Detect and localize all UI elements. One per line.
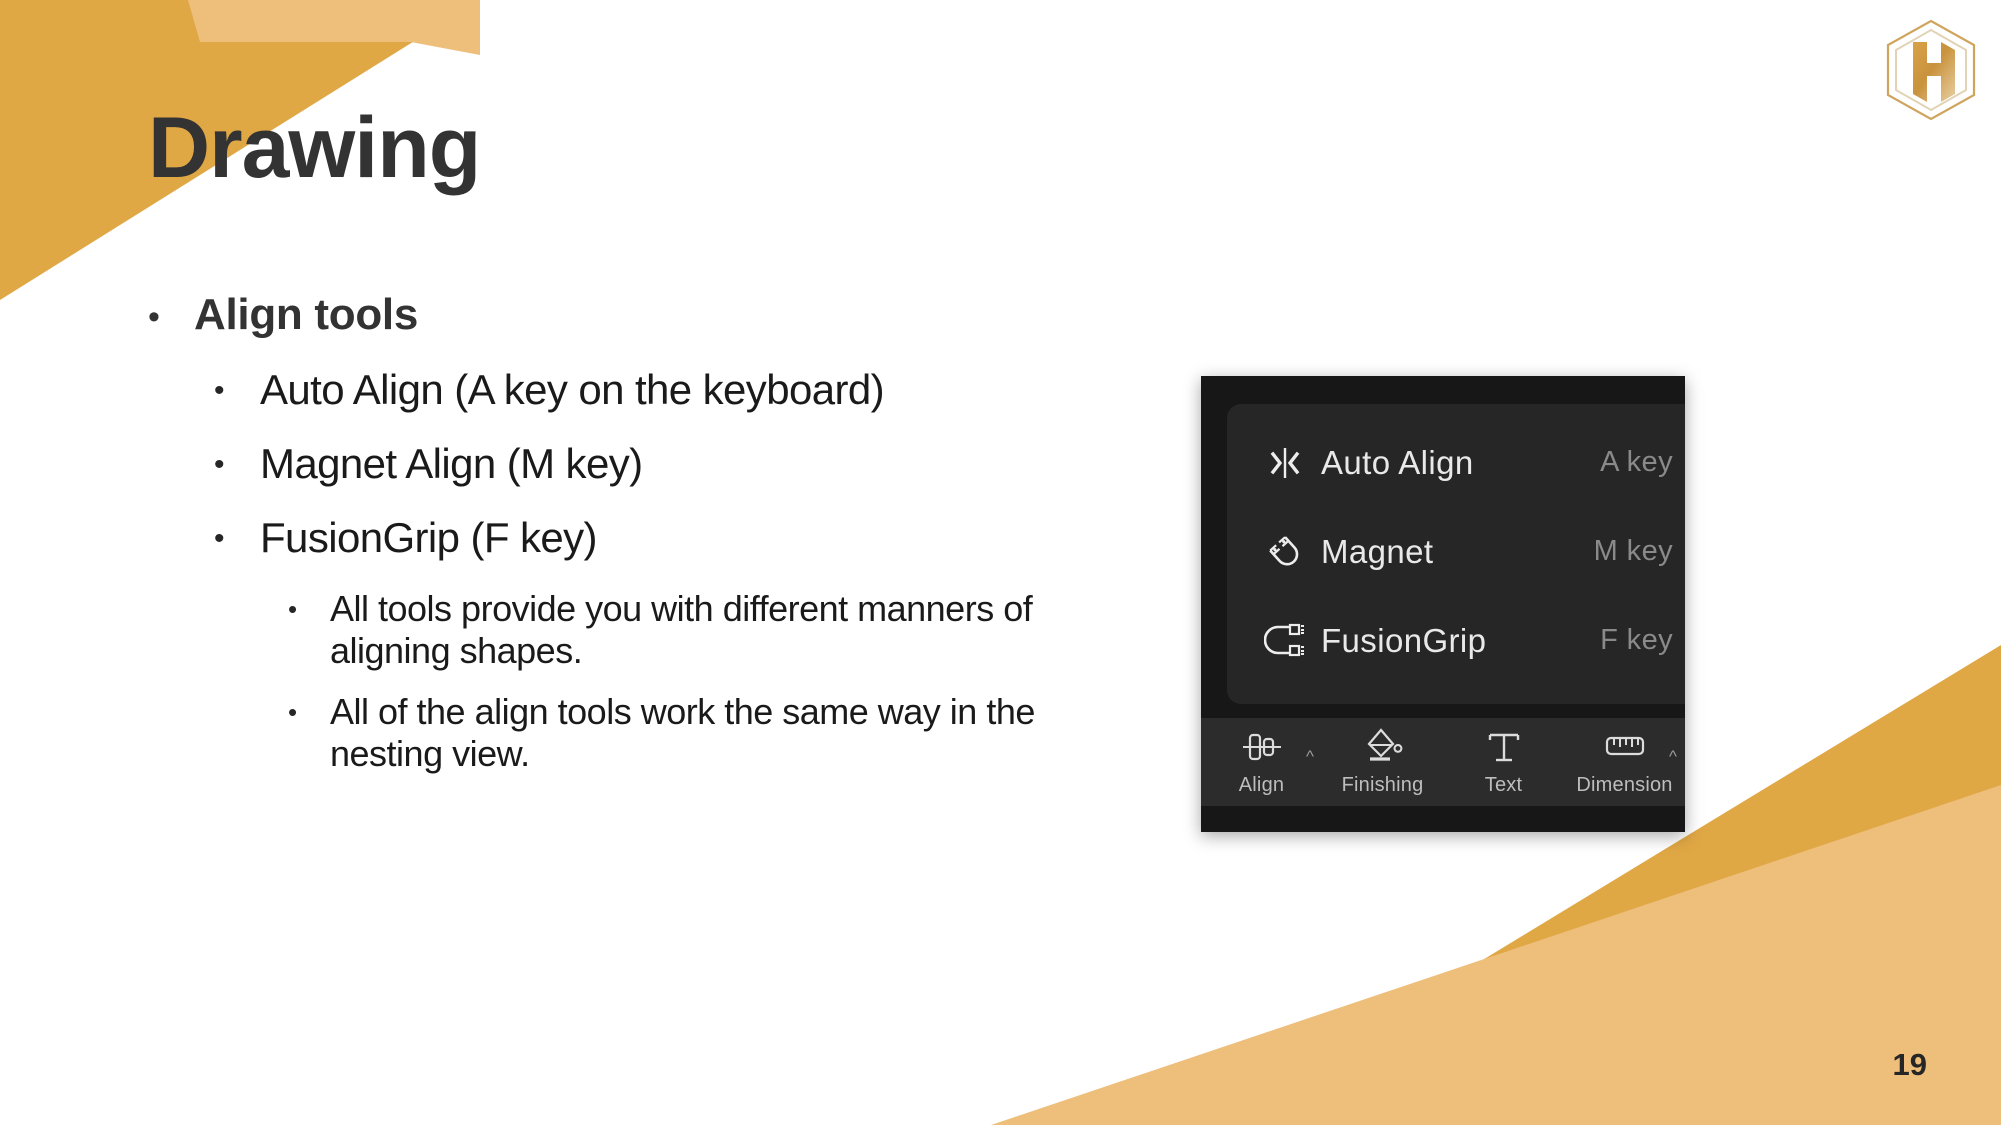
bullet-text: All tools provide you with different man… <box>330 588 1070 673</box>
chevron-up-icon: ^ <box>1669 748 1677 765</box>
bullet-level3: • All of the align tools work the same w… <box>148 691 1168 776</box>
bullet-dot-icon: • <box>148 290 194 334</box>
app-panel-screenshot: Auto Align A key Magnet <box>1201 376 1685 832</box>
bullet-text: Magnet Align (M key) <box>260 440 1168 488</box>
fusiongrip-icon <box>1257 619 1313 663</box>
bullet-level1: • Align tools <box>148 290 1168 340</box>
bullet-dot-icon: • <box>288 691 330 725</box>
bullet-dot-icon: • <box>288 588 330 622</box>
hexagon-h-logo <box>1883 18 1979 122</box>
toolbar-item-align[interactable]: ^ Align <box>1201 718 1322 806</box>
menu-item-label: Auto Align <box>1313 444 1600 482</box>
bullet-list: • Align tools • Auto Align (A key on the… <box>148 290 1168 794</box>
toolbar-item-label: Align <box>1239 774 1284 797</box>
bullet-level3: • All tools provide you with different m… <box>148 588 1168 673</box>
menu-item-shortcut: M key <box>1594 535 1685 568</box>
align-tools-popup-menu: Auto Align A key Magnet <box>1227 404 1685 704</box>
bullet-level2: • Auto Align (A key on the keyboard) <box>148 366 1168 414</box>
menu-item-label: Magnet <box>1313 533 1594 571</box>
auto-align-icon <box>1257 441 1313 485</box>
menu-item-shortcut: F key <box>1600 624 1685 657</box>
finishing-icon <box>1361 726 1405 768</box>
page-title: Drawing <box>148 105 480 191</box>
toolbar-item-dimension[interactable]: ^ Dimension <box>1564 718 1685 806</box>
menu-item-shortcut: A key <box>1600 446 1685 479</box>
bullet-level2: • Magnet Align (M key) <box>148 440 1168 488</box>
toolbar-item-label: Dimension <box>1576 774 1672 797</box>
page-number: 19 <box>1893 1047 1927 1083</box>
toolbar-item-label: Finishing <box>1342 774 1424 797</box>
bullet-dot-icon: • <box>214 440 260 480</box>
toolbar-item-finishing[interactable]: Finishing <box>1322 718 1443 806</box>
bottom-toolbar: ^ Align Finishing <box>1201 718 1685 806</box>
toolbar-item-label: Text <box>1485 774 1522 797</box>
slide: Drawing • Align tools • Auto Align (A ke… <box>0 0 2001 1125</box>
bullet-text: Align tools <box>194 290 1168 340</box>
bullet-level2: • FusionGrip (F key) <box>148 514 1168 562</box>
menu-item-fusiongrip[interactable]: FusionGrip F key <box>1227 596 1685 685</box>
menu-item-magnet[interactable]: Magnet M key <box>1227 507 1685 596</box>
bullet-text: All of the align tools work the same way… <box>330 691 1070 776</box>
bullet-text: FusionGrip (F key) <box>260 514 1168 562</box>
dimension-icon <box>1601 726 1649 768</box>
menu-item-label: FusionGrip <box>1313 622 1600 660</box>
chevron-up-icon: ^ <box>1306 748 1314 765</box>
magnet-icon <box>1257 530 1313 574</box>
text-icon <box>1484 726 1524 768</box>
bullet-dot-icon: • <box>214 514 260 554</box>
align-icon <box>1238 726 1286 768</box>
menu-item-auto-align[interactable]: Auto Align A key <box>1227 418 1685 507</box>
bullet-dot-icon: • <box>214 366 260 406</box>
toolbar-item-text[interactable]: Text <box>1443 718 1564 806</box>
corner-decoration-bottom-right-light <box>991 785 2001 1125</box>
bullet-text: Auto Align (A key on the keyboard) <box>260 366 1168 414</box>
